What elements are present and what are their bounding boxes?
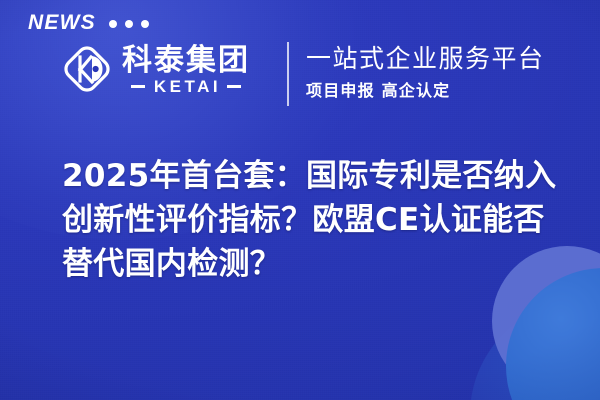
dot-icon-1 [109, 20, 117, 28]
headline-line-2: 创新性评价指标？欧盟CE认证能否 [62, 198, 578, 242]
header-divider [287, 42, 289, 106]
news-tag: NEWS [28, 12, 149, 33]
dot-icon-2 [125, 20, 133, 28]
brand-rule-right-icon [227, 85, 241, 88]
brand-name-en: KETAI [151, 78, 221, 95]
brand-rule-left-icon [131, 85, 145, 88]
news-banner: NEWS 科泰集团 [0, 0, 600, 400]
brand-name-en-row: KETAI [131, 78, 241, 95]
news-label: NEWS [28, 12, 96, 33]
ketai-diamond-kd-monogram-icon [60, 42, 114, 96]
tagline-secondary: 项目申报 高企认定 [306, 81, 545, 100]
headline-line-1: 2025年首台套：国际专利是否纳入 [62, 154, 578, 198]
news-dots [109, 18, 149, 28]
tagline-primary: 一站式企业服务平台 [306, 44, 545, 74]
brand-name-cn: 科泰集团 [122, 45, 250, 77]
brand-logo: 科泰集团 KETAI [60, 42, 250, 96]
brand-tagline: 一站式企业服务平台 项目申报 高企认定 [306, 44, 545, 100]
brand-logo-text: 科泰集团 KETAI [122, 43, 250, 96]
dot-icon-3 [141, 20, 149, 28]
headline-line-3: 替代国内检测？ [62, 242, 578, 286]
headline: 2025年首台套：国际专利是否纳入 创新性评价指标？欧盟CE认证能否 替代国内检… [62, 154, 578, 286]
